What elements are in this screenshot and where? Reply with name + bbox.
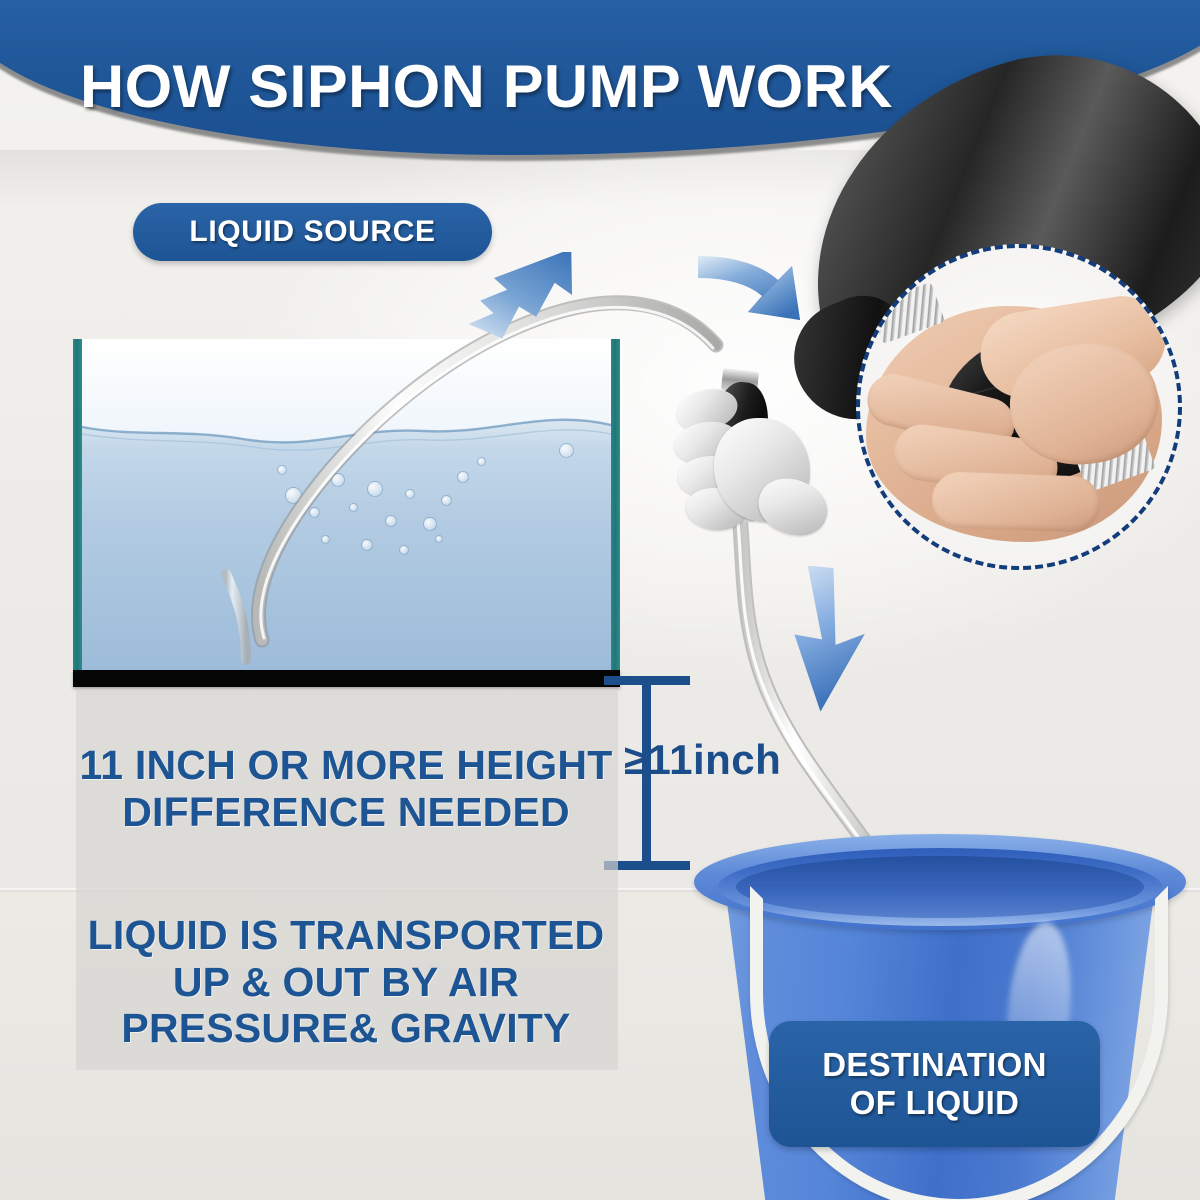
bubble	[399, 545, 409, 555]
bubble	[349, 503, 358, 512]
tank-base	[73, 670, 620, 687]
magnifier-callout-icon	[856, 244, 1182, 570]
transport-line-3: PRESSURE& GRAVITY	[70, 1005, 622, 1052]
tank-glass-right	[611, 339, 620, 679]
bubble	[361, 539, 373, 551]
label-destination-line-2: OF LIQUID	[822, 1084, 1047, 1122]
label-destination-text: DESTINATION OF LIQUID	[822, 1046, 1047, 1121]
transport-line-2: UP & OUT BY AIR	[70, 959, 622, 1006]
label-destination-line-1: DESTINATION	[822, 1046, 1047, 1084]
label-destination-of-liquid[interactable]: DESTINATION OF LIQUID	[769, 1021, 1100, 1147]
bubble	[559, 443, 574, 458]
label-liquid-source[interactable]: LIQUID SOURCE	[133, 203, 492, 261]
height-requirement-text: 11 INCH OR MORE HEIGHT DIFFERENCE NEEDED	[70, 742, 622, 835]
tank-glass-left	[73, 339, 82, 679]
callout-photo	[860, 248, 1178, 566]
dimension-label: ≥11inch	[624, 736, 781, 784]
bubble	[435, 535, 443, 543]
transport-line-1: LIQUID IS TRANSPORTED	[70, 912, 622, 959]
bubble	[321, 535, 330, 544]
bubble	[477, 457, 486, 466]
siphon-pump-infographic: HOW SIPHON PUMP WORK	[0, 0, 1200, 1200]
gripping-hand	[672, 360, 838, 546]
bubble	[277, 465, 287, 475]
bubble	[331, 473, 345, 487]
liquid-source-tank	[73, 339, 620, 687]
bubble	[457, 471, 469, 483]
height-requirement-line-2: DIFFERENCE NEEDED	[70, 789, 622, 836]
callout-finger	[931, 471, 1101, 533]
bubble	[423, 517, 437, 531]
bubble	[405, 489, 415, 499]
bubble	[385, 515, 397, 527]
height-requirement-line-1: 11 INCH OR MORE HEIGHT	[70, 742, 622, 789]
tank-water	[82, 339, 611, 673]
bubble	[367, 481, 383, 497]
bubble	[285, 487, 302, 504]
label-liquid-source-text: LIQUID SOURCE	[189, 215, 435, 249]
page-title: HOW SIPHON PUMP WORK	[80, 52, 893, 121]
bubble	[441, 495, 452, 506]
transport-explanation-text: LIQUID IS TRANSPORTED UP & OUT BY AIR PR…	[70, 912, 622, 1052]
bubble	[309, 507, 320, 518]
